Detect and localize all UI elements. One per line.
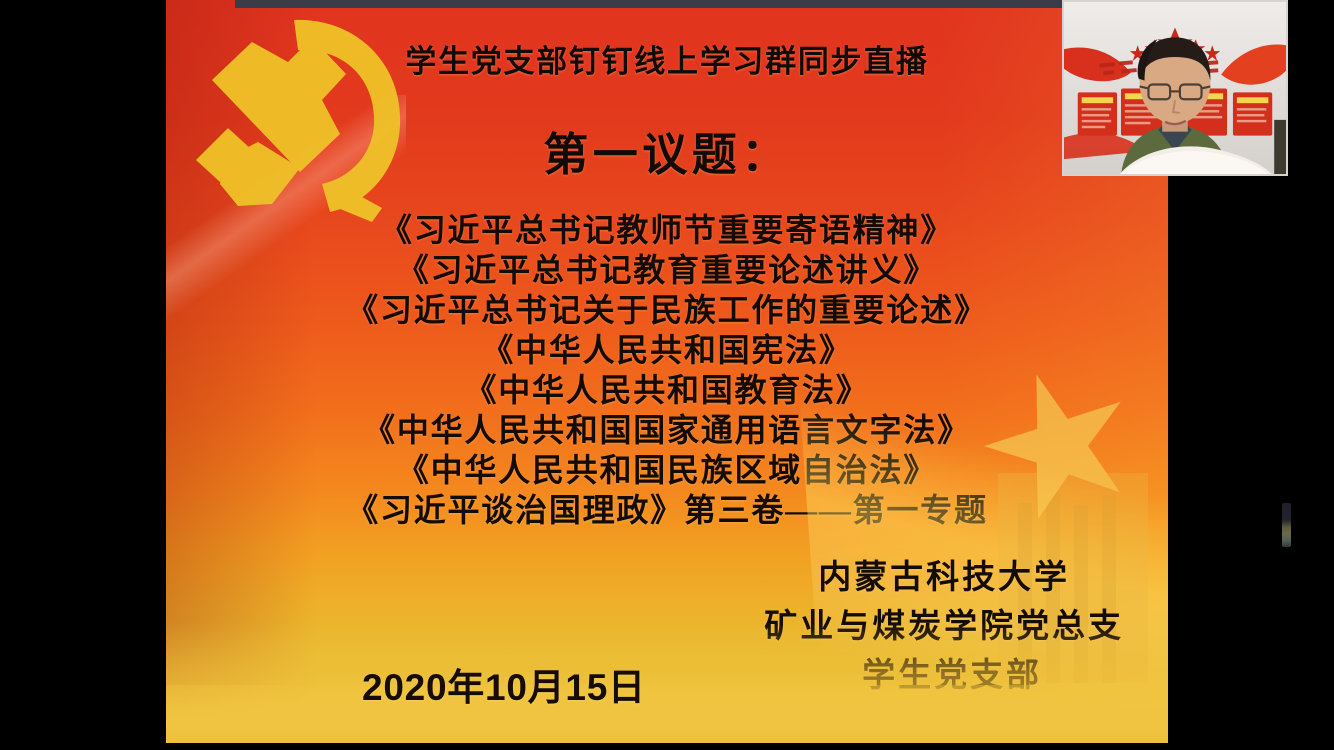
slide-date: 2020年10月15日	[362, 657, 646, 711]
list-item: 《中华人民共和国教育法》	[166, 370, 1168, 410]
list-item: 《习近平总书记关于民族工作的重要论述》	[166, 290, 1168, 330]
meeting-screen: 学生党支部钉钉线上学习群同步直播 第一议题： 《习近平总书记教师节重要寄语精神》…	[0, 0, 1334, 750]
list-item: 《习近平总书记教师节重要寄语精神》	[166, 210, 1168, 250]
share-window-topbar	[235, 0, 1168, 8]
document-list: 《习近平总书记教师节重要寄语精神》 《习近平总书记教育重要论述讲义》 《习近平总…	[166, 210, 1168, 530]
slide-title: 学生党支部钉钉线上学习群同步直播	[166, 36, 1168, 81]
slide-subtitle: 第一议题：	[166, 118, 1168, 183]
signature-line-university: 内蒙古科技大学	[530, 554, 1130, 603]
list-item: 《中华人民共和国民族区域自治法》	[166, 450, 1168, 490]
list-item: 《习近平总书记教育重要论述讲义》	[166, 250, 1168, 290]
presenter-video-tile[interactable]	[1062, 0, 1288, 176]
signature-line-department: 矿业与煤炭学院党总支	[530, 603, 1130, 652]
presenter-video-frame	[1064, 2, 1286, 175]
list-item: 《中华人民共和国国家通用语言文字法》	[166, 410, 1168, 450]
scroll-indicator[interactable]	[1282, 503, 1291, 547]
list-item: 《中华人民共和国宪法》	[166, 330, 1168, 370]
shared-slide: 学生党支部钉钉线上学习群同步直播 第一议题： 《习近平总书记教师节重要寄语精神》…	[166, 0, 1168, 743]
list-item: 《习近平谈治国理政》第三卷——第一专题	[166, 490, 1168, 530]
